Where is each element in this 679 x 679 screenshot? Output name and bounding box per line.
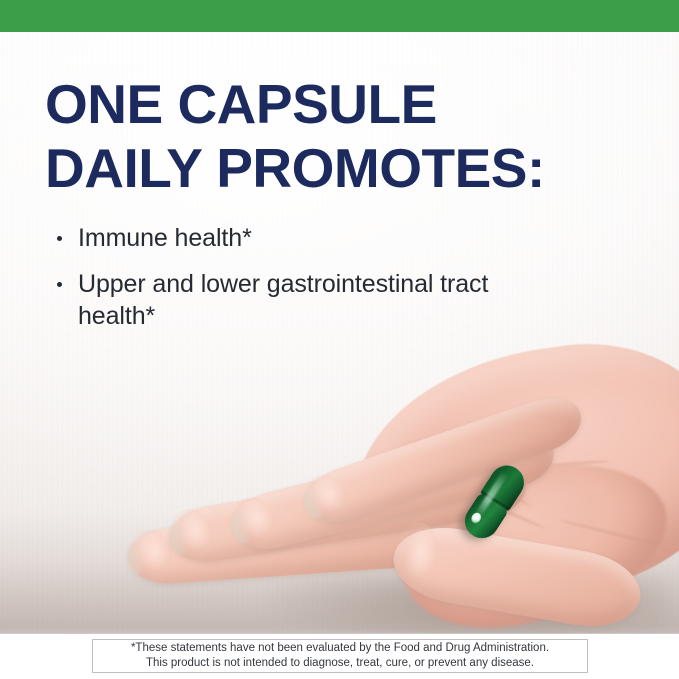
- footer-divider: [0, 633, 679, 634]
- page-title: ONE CAPSULE DAILY PROMOTES:: [45, 72, 545, 200]
- fda-disclaimer-box: *These statements have not been evaluate…: [92, 639, 588, 673]
- list-item: Immune health*: [52, 222, 572, 254]
- product-marketing-image: ONE CAPSULE DAILY PROMOTES: Immune healt…: [0, 0, 679, 679]
- list-item: Upper and lower gastrointestinal tract h…: [52, 268, 572, 332]
- fda-disclaimer-text: *These statements have not been evaluate…: [131, 641, 549, 671]
- top-green-band: [0, 0, 679, 32]
- benefits-list: Immune health* Upper and lower gastroint…: [52, 222, 572, 346]
